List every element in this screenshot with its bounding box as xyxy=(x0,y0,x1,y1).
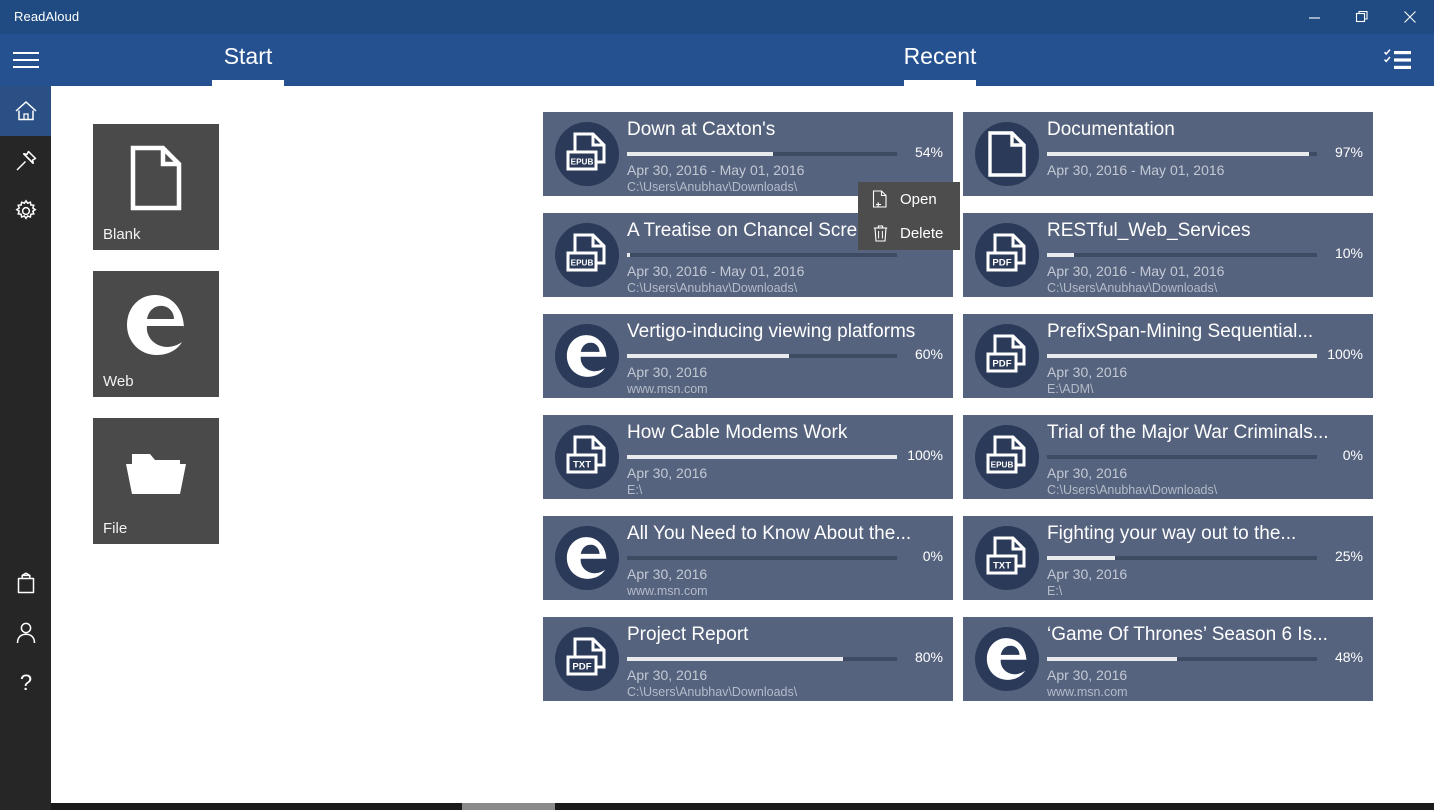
progress-track xyxy=(1047,657,1317,661)
file-type-icon: EPUB xyxy=(555,122,619,186)
recent-card-path: C:\Users\Anubhav\Downloads\ xyxy=(1047,483,1217,497)
recent-card[interactable]: EPUB Trial of the Major War Criminals...… xyxy=(963,415,1373,499)
progress-row: 10% xyxy=(1047,248,1363,264)
tile-web-label: Web xyxy=(103,373,134,390)
recent-card-title: Project Report xyxy=(627,621,945,649)
progress-track xyxy=(627,455,897,459)
sidebar-item-help[interactable]: ? xyxy=(0,658,51,708)
recent-card-title: Documentation xyxy=(1047,116,1365,144)
sidebar-item-account[interactable] xyxy=(0,608,51,658)
recent-card-date: Apr 30, 2016 - May 01, 2016 xyxy=(627,263,804,279)
tile-blank[interactable]: Blank xyxy=(93,124,219,250)
progress-percent: 80% xyxy=(897,649,943,665)
progress-row: 54% xyxy=(627,147,943,163)
recent-card-title: ‘Game Of Thrones’ Season 6 Is... xyxy=(1047,621,1365,649)
edge-icon xyxy=(93,289,219,361)
file-type-icon: PDF xyxy=(975,324,1039,388)
minimize-button[interactable] xyxy=(1290,0,1338,34)
context-menu-open-label: Open xyxy=(900,191,937,208)
progress-percent: 100% xyxy=(1317,346,1363,362)
person-icon xyxy=(15,621,37,645)
tile-file[interactable]: File xyxy=(93,418,219,544)
progress-fill xyxy=(1047,657,1177,661)
recent-card[interactable]: Vertigo-inducing viewing platforms 60% A… xyxy=(543,314,953,398)
svg-text:EPUB: EPUB xyxy=(571,259,594,268)
recent-card-path: www.msn.com xyxy=(627,382,708,396)
progress-fill xyxy=(627,657,843,661)
recent-card-date: Apr 30, 2016 xyxy=(1047,465,1127,481)
svg-text:EPUB: EPUB xyxy=(991,461,1014,470)
recent-card-date: Apr 30, 2016 - May 01, 2016 xyxy=(627,162,804,178)
progress-fill xyxy=(1047,354,1317,358)
progress-row: 0% xyxy=(1047,450,1363,466)
svg-text:TXT: TXT xyxy=(573,460,591,471)
gear-icon xyxy=(14,199,38,223)
progress-percent: 0% xyxy=(897,548,943,564)
maximize-button[interactable] xyxy=(1338,0,1386,34)
progress-percent: 0% xyxy=(1317,447,1363,463)
bag-icon xyxy=(15,571,37,595)
recent-card[interactable]: PDF RESTful_Web_Services 10% Apr 30, 201… xyxy=(963,213,1373,297)
svg-text:?: ? xyxy=(19,670,31,695)
svg-text:PDF: PDF xyxy=(992,258,1011,269)
progress-row: 60% xyxy=(627,349,943,365)
progress-row: 80% xyxy=(627,652,943,668)
open-file-icon xyxy=(868,189,892,209)
progress-percent: 54% xyxy=(897,144,943,160)
progress-percent: 48% xyxy=(1317,649,1363,665)
sidebar-item-store[interactable] xyxy=(0,558,51,608)
recent-card-path: C:\Users\Anubhav\Downloads\ xyxy=(627,685,797,699)
progress-row: 48% xyxy=(1047,652,1363,668)
recent-card[interactable]: ‘Game Of Thrones’ Season 6 Is... 48% Apr… xyxy=(963,617,1373,701)
recent-card[interactable]: PDF PrefixSpan-Mining Sequential... 100%… xyxy=(963,314,1373,398)
progress-track xyxy=(1047,152,1317,156)
recent-card[interactable]: TXT How Cable Modems Work 100% Apr 30, 2… xyxy=(543,415,953,499)
horizontal-scrollbar[interactable] xyxy=(51,803,1434,810)
recent-card-title: RESTful_Web_Services xyxy=(1047,217,1365,245)
recent-card-date: Apr 30, 2016 xyxy=(627,566,707,582)
file-type-icon: EPUB xyxy=(975,425,1039,489)
progress-fill xyxy=(627,253,630,257)
progress-row: 97% xyxy=(1047,147,1363,163)
progress-track xyxy=(1047,455,1317,459)
app-window: ReadAloud Start xyxy=(0,0,1434,810)
recent-card-path: www.msn.com xyxy=(1047,685,1128,699)
recent-card-path: C:\Users\Anubhav\Downloads\ xyxy=(627,180,797,194)
file-type-icon: TXT xyxy=(975,526,1039,590)
document-icon xyxy=(93,142,219,214)
recent-card-path: C:\Users\Anubhav\Downloads\ xyxy=(627,281,797,295)
file-type-icon: PDF xyxy=(555,627,619,691)
tab-start[interactable]: Start xyxy=(190,40,306,86)
tile-web[interactable]: Web xyxy=(93,271,219,397)
progress-row: 100% xyxy=(1047,349,1363,365)
tab-recent[interactable]: Recent xyxy=(882,40,998,86)
recent-card-title: All You Need to Know About the... xyxy=(627,520,945,548)
recent-card-date: Apr 30, 2016 - May 01, 2016 xyxy=(1047,263,1224,279)
progress-row: 25% xyxy=(1047,551,1363,567)
progress-fill xyxy=(1047,556,1115,560)
recent-card-date: Apr 30, 2016 xyxy=(1047,667,1127,683)
progress-fill xyxy=(1047,253,1074,257)
close-button[interactable] xyxy=(1386,0,1434,34)
progress-fill xyxy=(627,455,897,459)
svg-text:PDF: PDF xyxy=(992,359,1011,370)
sidebar-item-pin[interactable] xyxy=(0,136,51,186)
recent-card[interactable]: PDF Project Report 80% Apr 30, 2016 C:\U… xyxy=(543,617,953,701)
recent-card-date: Apr 30, 2016 xyxy=(627,465,707,481)
sidebar-item-settings[interactable] xyxy=(0,186,51,236)
recent-card-title: Vertigo-inducing viewing platforms xyxy=(627,318,945,346)
checklist-icon[interactable] xyxy=(1384,48,1412,72)
recent-card-date: Apr 30, 2016 xyxy=(1047,364,1127,380)
progress-percent: 100% xyxy=(897,447,943,463)
recent-card-path: E:\ADM\ xyxy=(1047,382,1094,396)
file-type-icon xyxy=(555,324,619,388)
progress-fill xyxy=(627,152,773,156)
progress-track xyxy=(627,152,897,156)
sidebar: ? xyxy=(0,86,51,810)
recent-card-title: Fighting your way out to the... xyxy=(1047,520,1365,548)
tile-file-label: File xyxy=(103,520,127,537)
progress-row: 100% xyxy=(627,450,943,466)
context-menu: Open Delete xyxy=(858,182,960,250)
progress-percent: 97% xyxy=(1317,144,1363,160)
recent-card-date: Apr 30, 2016 xyxy=(627,364,707,380)
trash-icon xyxy=(868,223,892,243)
sidebar-item-home[interactable] xyxy=(0,86,51,136)
hamburger-icon[interactable] xyxy=(11,44,41,76)
progress-track xyxy=(1047,253,1317,257)
progress-track xyxy=(627,354,897,358)
recent-card-date: Apr 30, 2016 xyxy=(1047,566,1127,582)
progress-row xyxy=(627,248,943,264)
pin-icon xyxy=(14,149,38,173)
recent-card-path: E:\ xyxy=(627,483,642,497)
progress-track xyxy=(1047,354,1317,358)
progress-fill xyxy=(627,354,789,358)
context-menu-item-delete[interactable]: Delete xyxy=(858,216,960,250)
recent-card[interactable]: TXT Fighting your way out to the... 25% … xyxy=(963,516,1373,600)
app-title: ReadAloud xyxy=(14,9,79,24)
tab-recent-label: Recent xyxy=(882,40,998,72)
scrollbar-thumb[interactable] xyxy=(462,803,555,810)
recent-card-title: How Cable Modems Work xyxy=(627,419,945,447)
progress-percent: 25% xyxy=(1317,548,1363,564)
tab-start-label: Start xyxy=(190,40,306,72)
recent-card-path: www.msn.com xyxy=(627,584,708,598)
sidebar-spacer xyxy=(0,236,51,558)
recent-card[interactable]: Documentation 97% Apr 30, 2016 - May 01,… xyxy=(963,112,1373,196)
progress-row: 0% xyxy=(627,551,943,567)
progress-track xyxy=(627,556,897,560)
content-area: Blank Web File E xyxy=(51,86,1434,803)
recent-card-title: PrefixSpan-Mining Sequential... xyxy=(1047,318,1365,346)
file-type-icon xyxy=(975,122,1039,186)
progress-percent: 10% xyxy=(1317,245,1363,261)
question-icon: ? xyxy=(15,670,37,696)
file-type-icon: EPUB xyxy=(555,223,619,287)
file-type-icon xyxy=(975,627,1039,691)
svg-text:TXT: TXT xyxy=(993,561,1011,572)
progress-percent: 60% xyxy=(897,346,943,362)
progress-track xyxy=(1047,556,1317,560)
tile-blank-label: Blank xyxy=(103,226,141,243)
file-type-icon: PDF xyxy=(975,223,1039,287)
progress-track xyxy=(627,253,897,257)
recent-card[interactable]: All You Need to Know About the... 0% Apr… xyxy=(543,516,953,600)
window-controls xyxy=(1290,0,1434,34)
recent-card-date: Apr 30, 2016 xyxy=(627,667,707,683)
context-menu-delete-label: Delete xyxy=(900,225,943,242)
header-band: Start Recent xyxy=(0,34,1434,86)
title-bar: ReadAloud xyxy=(0,0,1434,34)
file-type-icon xyxy=(555,526,619,590)
progress-track xyxy=(627,657,897,661)
recent-card-title: Down at Caxton's xyxy=(627,116,945,144)
svg-text:PDF: PDF xyxy=(572,662,591,673)
context-menu-item-open[interactable]: Open xyxy=(858,182,960,216)
recent-card-path: E:\ xyxy=(1047,584,1062,598)
svg-text:EPUB: EPUB xyxy=(571,158,594,167)
recent-card-title: Trial of the Major War Criminals... xyxy=(1047,419,1365,447)
folder-icon xyxy=(93,436,219,508)
home-icon xyxy=(14,100,38,122)
file-type-icon: TXT xyxy=(555,425,619,489)
progress-fill xyxy=(1047,152,1309,156)
recent-card-date: Apr 30, 2016 - May 01, 2016 xyxy=(1047,162,1224,178)
recent-card-path: C:\Users\Anubhav\Downloads\ xyxy=(1047,281,1217,295)
